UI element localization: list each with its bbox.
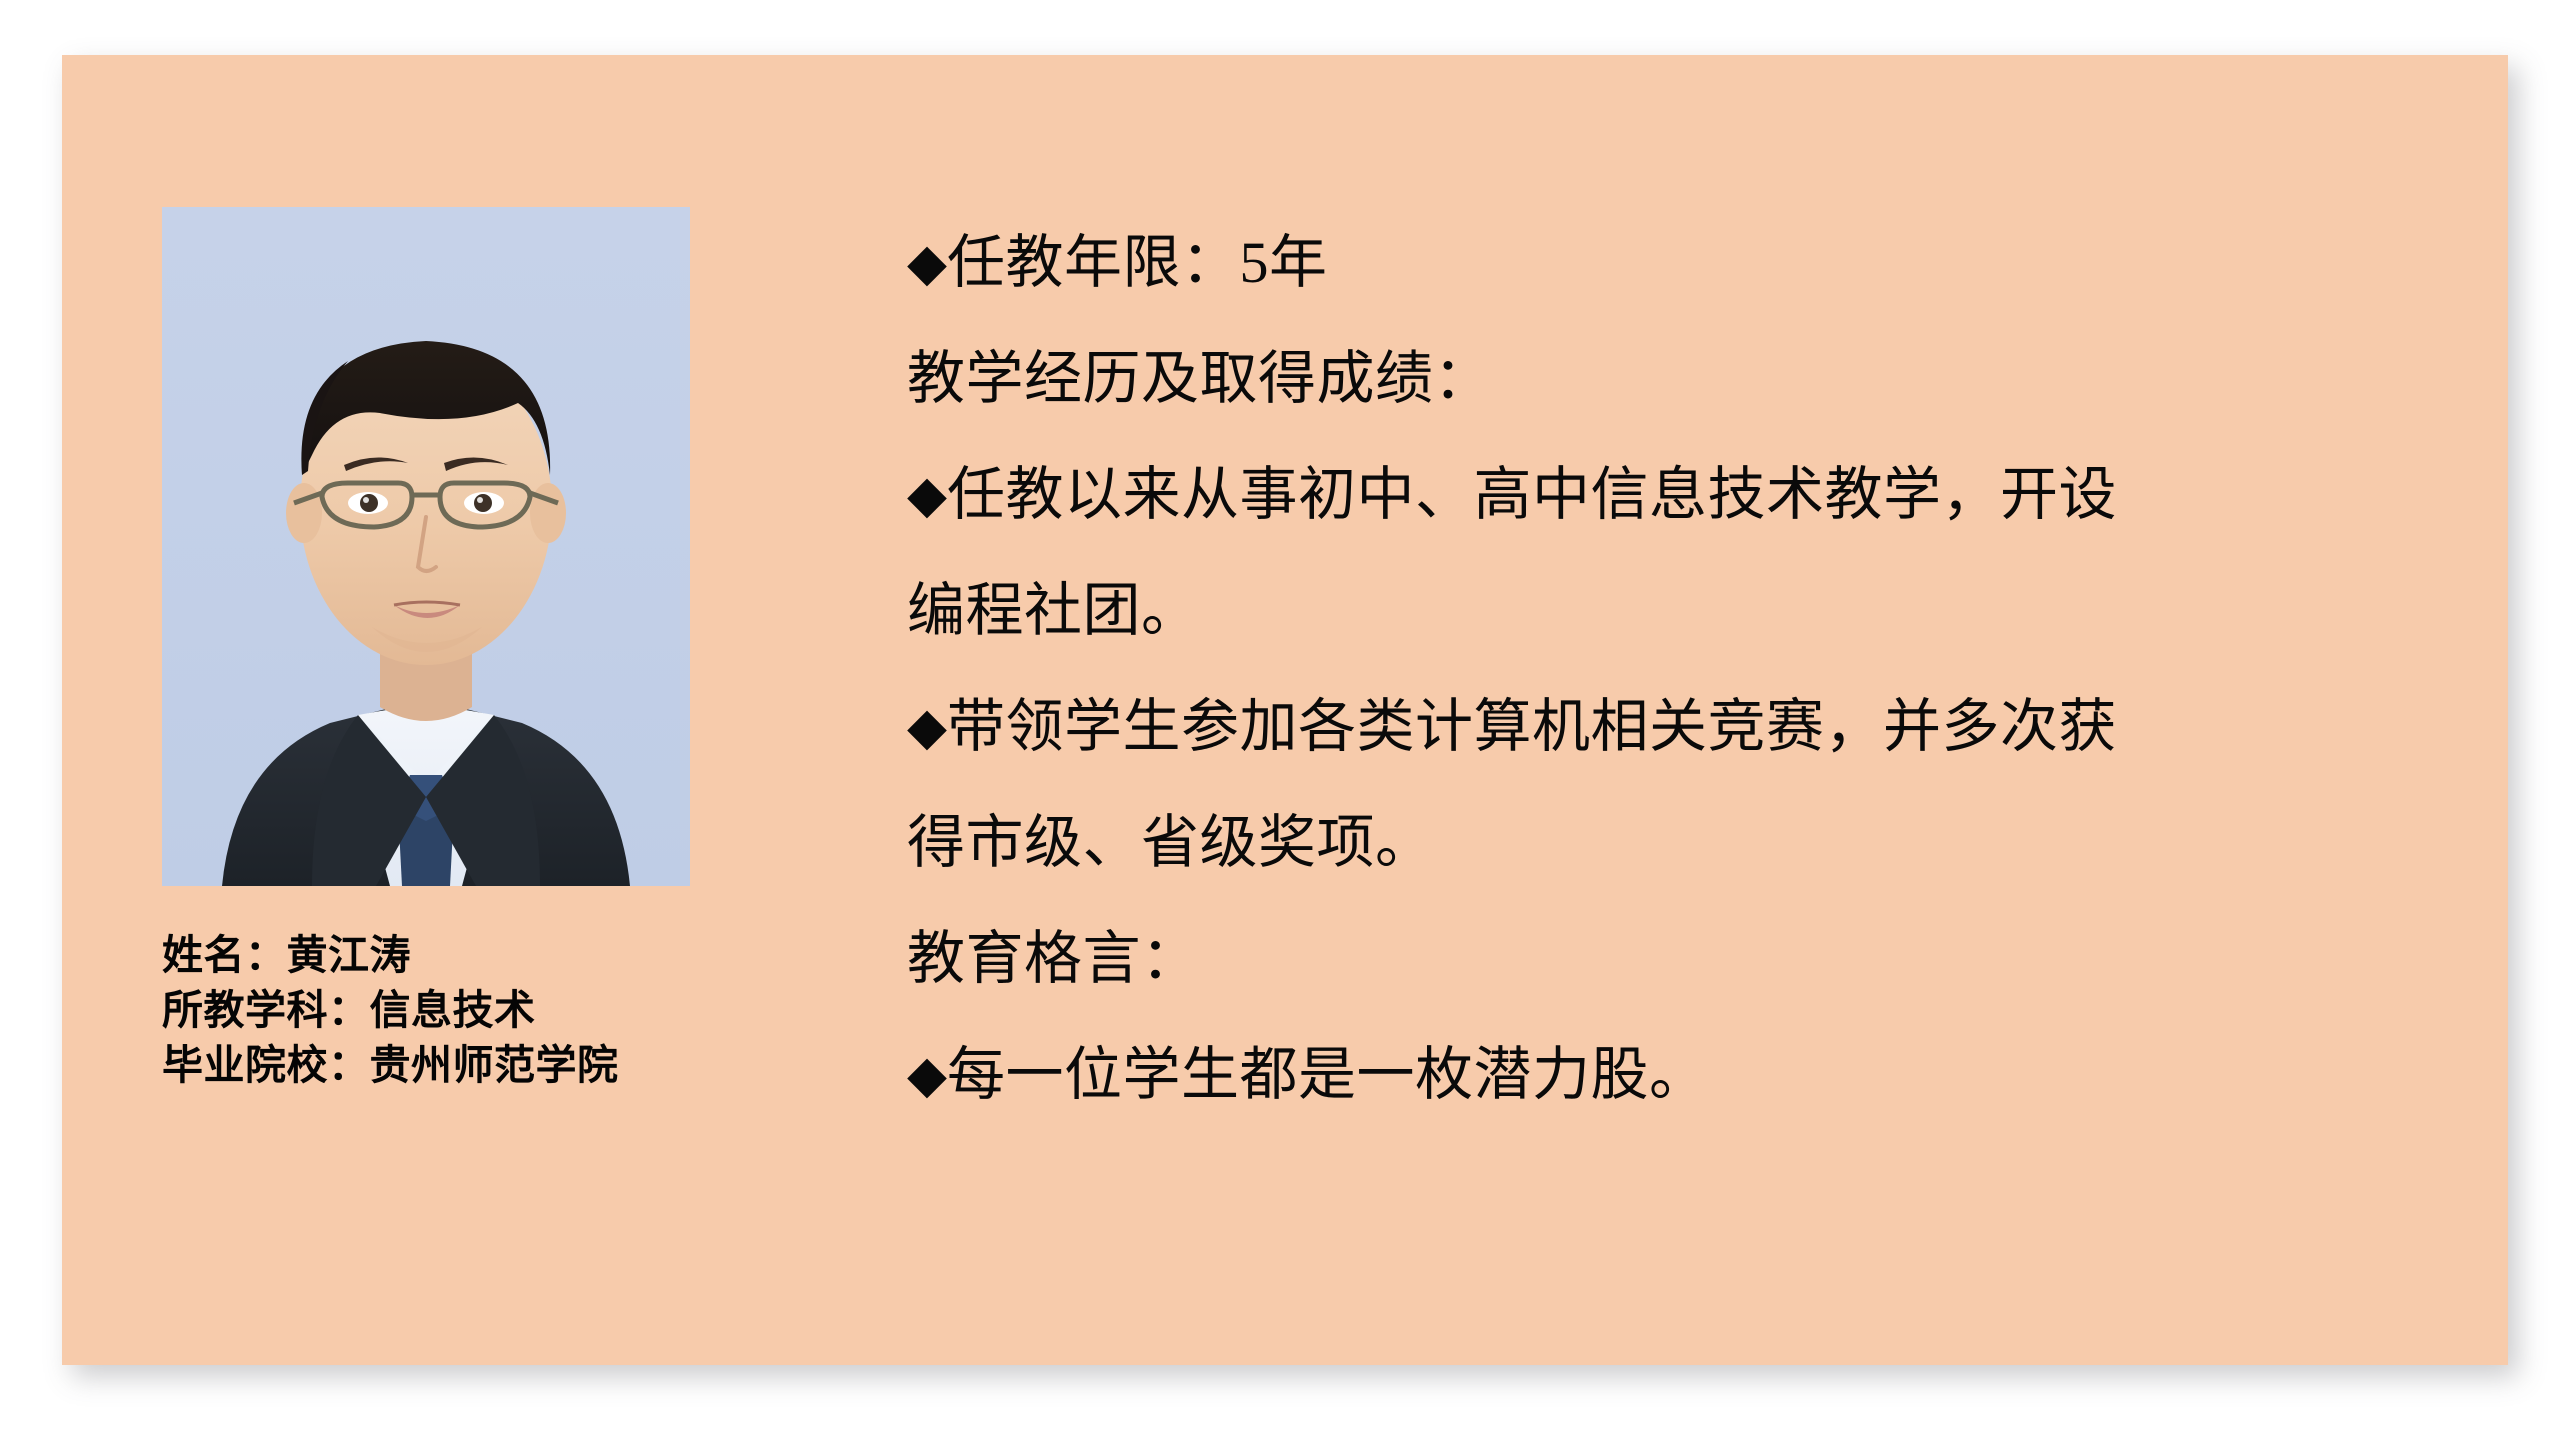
detail-line-text: 教学经历及取得成绩： (907, 346, 1492, 411)
detail-line-text: 带领学生参加各类计算机相关竞赛，并多次获 (947, 694, 2117, 759)
diamond-bullet-icon: ◆ (907, 1045, 947, 1105)
detail-line-motto: ◆每一位学生都是一枚潜力股。 (907, 1017, 2467, 1133)
detail-line-text: 任教年限：5年 (947, 230, 1328, 295)
detail-line-experience-2a: ◆带领学生参加各类计算机相关竞赛，并多次获 (907, 669, 2467, 785)
detail-line-text: 任教以来从事初中、高中信息技术教学，开设 (947, 462, 2117, 527)
detail-line-teaching-years: ◆任教年限：5年 (907, 205, 2467, 321)
profile-card: 姓名：黄江涛 所教学科：信息技术 毕业院校：贵州师范学院 ◆任教年限：5年 教学… (62, 55, 2508, 1365)
detail-line-text: 编程社团。 (907, 578, 1200, 643)
teacher-portrait-photo (162, 207, 690, 886)
detail-line-experience-1b: 编程社团。 (907, 553, 2467, 669)
caption-school: 毕业院校：贵州师范学院 (162, 1038, 782, 1093)
left-column: 姓名：黄江涛 所教学科：信息技术 毕业院校：贵州师范学院 (162, 207, 782, 1093)
details-column: ◆任教年限：5年 教学经历及取得成绩： ◆任教以来从事初中、高中信息技术教学，开… (907, 205, 2467, 1133)
detail-line-text: 得市级、省级奖项。 (907, 810, 1434, 875)
detail-line-experience-2b: 得市级、省级奖项。 (907, 785, 2467, 901)
caption-subject: 所教学科：信息技术 (162, 983, 782, 1038)
detail-line-text: 每一位学生都是一枚潜力股。 (947, 1042, 1708, 1107)
detail-line-motto-heading: 教育格言： (907, 901, 2467, 1017)
portrait-illustration (162, 207, 690, 886)
page-root: 姓名：黄江涛 所教学科：信息技术 毕业院校：贵州师范学院 ◆任教年限：5年 教学… (0, 0, 2560, 1440)
caption-name: 姓名：黄江涛 (162, 928, 782, 983)
detail-line-text: 教育格言： (907, 926, 1200, 991)
detail-line-experience-heading: 教学经历及取得成绩： (907, 321, 2467, 437)
diamond-bullet-icon: ◆ (907, 233, 947, 293)
detail-line-experience-1a: ◆任教以来从事初中、高中信息技术教学，开设 (907, 437, 2467, 553)
diamond-bullet-icon: ◆ (907, 465, 947, 525)
diamond-bullet-icon: ◆ (907, 697, 947, 757)
profile-caption: 姓名：黄江涛 所教学科：信息技术 毕业院校：贵州师范学院 (162, 928, 782, 1093)
